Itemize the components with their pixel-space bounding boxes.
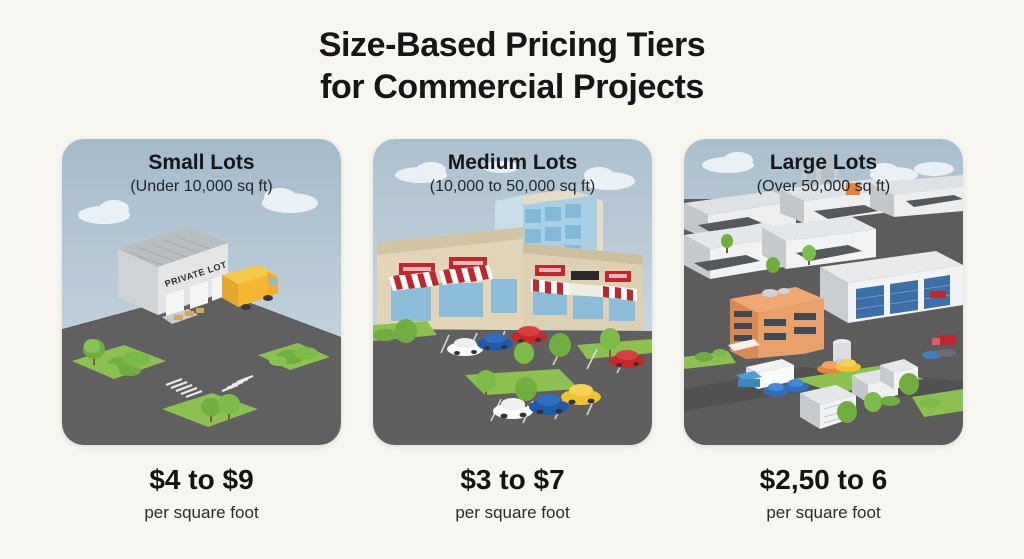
price-unit-large: per square foot [684, 500, 963, 526]
warehouse-with-truck-scene: PRIVATE LOT [62, 139, 341, 445]
price-amount-small: $4 to $9 [62, 462, 341, 498]
infographic-root: Size-Based Pricing Tiers for Commercial … [0, 0, 1024, 559]
title-line-1: Size-Based Pricing Tiers [0, 24, 1024, 66]
price-unit-small: per square foot [62, 500, 341, 526]
price-row: $4 to $9 per square foot $3 to $7 per sq… [62, 462, 963, 526]
price-block-small: $4 to $9 per square foot [62, 462, 341, 526]
strip-mall-parking-scene [373, 139, 652, 445]
page-title: Size-Based Pricing Tiers for Commercial … [0, 24, 1024, 108]
price-block-medium: $3 to $7 per square foot [373, 462, 652, 526]
price-amount-medium: $3 to $7 [373, 462, 652, 498]
title-line-2: for Commercial Projects [0, 66, 1024, 108]
tier-card-large-lots[interactable]: Large Lots (Over 50,000 sq ft) [684, 139, 963, 445]
industrial-park-scene [684, 139, 963, 445]
price-unit-medium: per square foot [373, 500, 652, 526]
tier-card-small-lots[interactable]: PRIVATE LOT [62, 139, 341, 445]
price-block-large: $2,50 to 6 per square foot [684, 462, 963, 526]
price-amount-large: $2,50 to 6 [684, 462, 963, 498]
tier-card-row: PRIVATE LOT [62, 139, 963, 445]
tier-card-medium-lots[interactable]: Medium Lots (10,000 to 50,000 sq ft) [373, 139, 652, 445]
